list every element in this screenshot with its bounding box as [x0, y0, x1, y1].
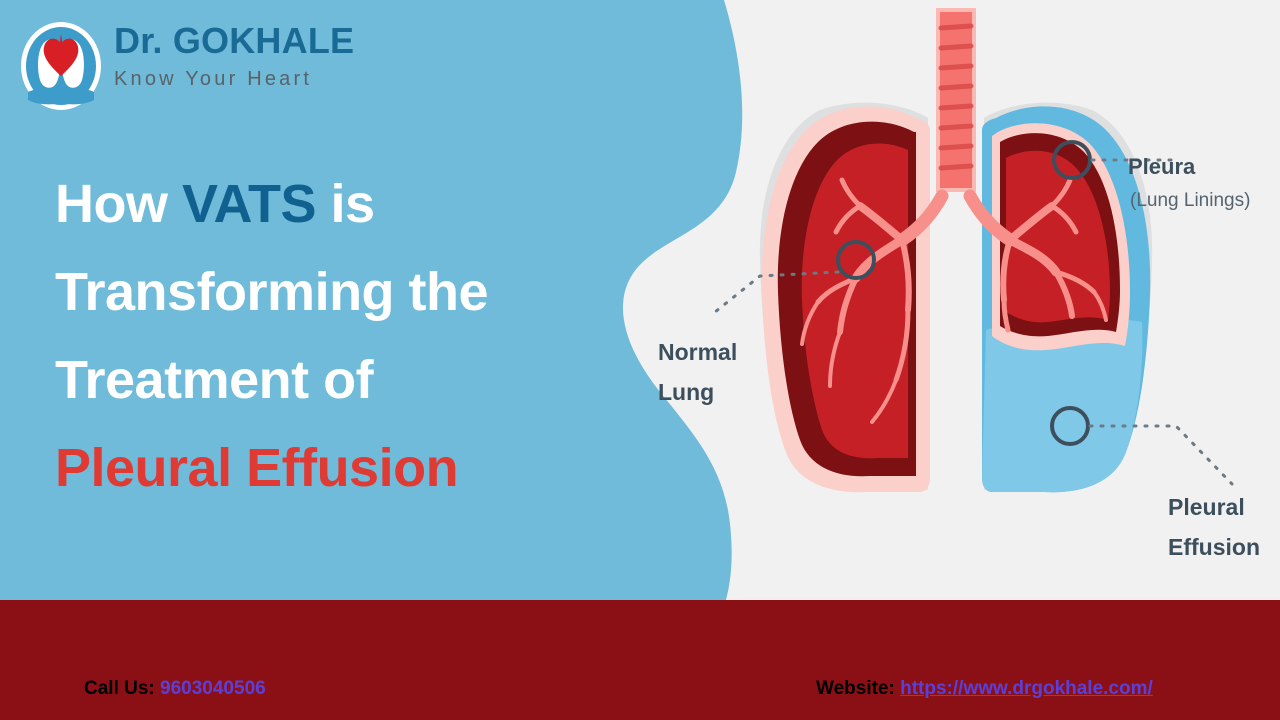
callout-label-pleura-subtitle: (Lung Linings)	[1130, 186, 1250, 216]
callout-label-pleural-effusion-line-2: Effusion	[1168, 527, 1260, 567]
brand-logo-text: Dr. GOKHALE Know Your Heart	[114, 18, 434, 92]
callout-label-normal-lung-line-2: Lung	[658, 372, 737, 412]
headline-line-3: Treatment of	[55, 336, 645, 424]
brand-tagline: Know Your Heart	[114, 66, 434, 92]
callout-label-normal-lung: Normal Lung	[658, 332, 737, 412]
headline-line-1-pre: How	[55, 174, 182, 234]
brand-logo[interactable]: Dr. GOKHALE Know Your Heart	[18, 18, 418, 118]
normal-lung	[762, 106, 942, 492]
headline-line-1: How VATS is	[55, 160, 645, 248]
page-title: How VATS is Transforming the Treatment o…	[55, 160, 645, 512]
callout-label-normal-lung-line-1: Normal	[658, 332, 737, 372]
footer-website-link[interactable]: https://www.drgokhale.com/	[900, 678, 1153, 699]
headline-accent-vats: VATS	[182, 174, 316, 234]
callout-label-pleural-effusion: Pleural Effusion	[1168, 487, 1260, 567]
callout-label-pleural-effusion-line-1: Pleural	[1168, 487, 1260, 527]
headline-accent-pleural-effusion: Pleural Effusion	[55, 424, 645, 512]
footer-phone-number[interactable]: 9603040506	[160, 678, 266, 699]
headline-line-2: Transforming the	[55, 248, 645, 336]
brand-name: Dr. GOKHALE	[114, 18, 434, 64]
footer-bar: Call Us: 9603040506 Website: https://www…	[0, 600, 1280, 720]
callout-label-pleura-title: Pleura	[1128, 154, 1195, 179]
lungs-heart-icon	[18, 20, 104, 112]
footer-call-label: Call Us:	[84, 678, 155, 699]
infographic-canvas: Dr. GOKHALE Know Your Heart How VATS is …	[0, 0, 1280, 720]
footer-phone-block: Call Us: 9603040506	[84, 678, 266, 700]
footer-website-label: Website:	[816, 678, 895, 699]
footer-website-block: Website: https://www.drgokhale.com/	[816, 678, 1153, 700]
trachea	[938, 10, 974, 190]
callout-label-pleura: Pleura (Lung Linings)	[1128, 152, 1250, 216]
headline-line-1-post: is	[316, 174, 375, 234]
lung-with-effusion	[970, 106, 1150, 492]
